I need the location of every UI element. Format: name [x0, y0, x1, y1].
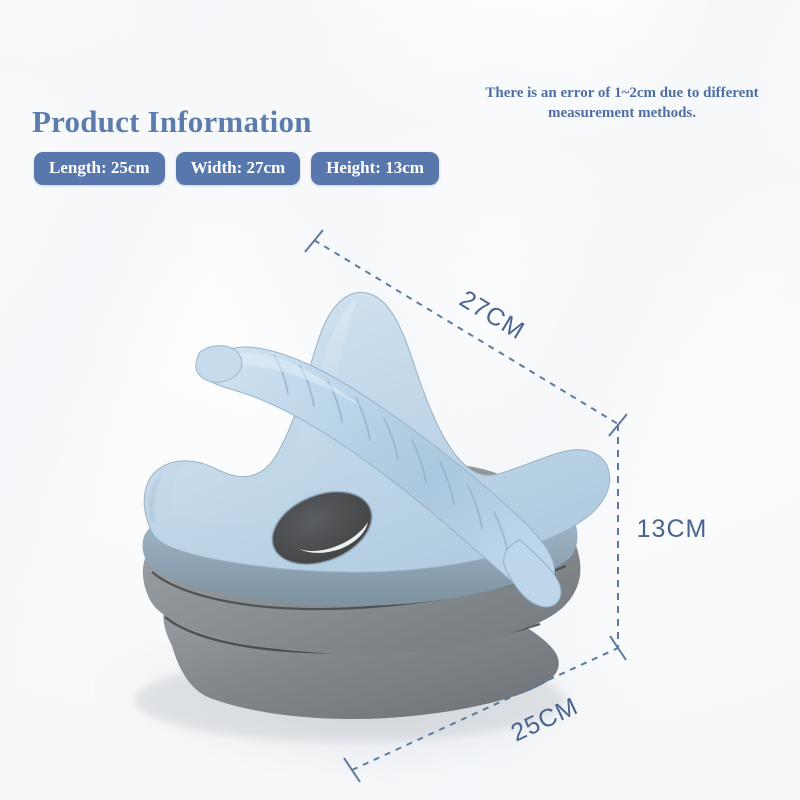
dimension-line-width	[314, 240, 618, 424]
product-information-image: Product Information There is an error of…	[0, 0, 800, 800]
dimension-label-height: 13CM	[637, 515, 708, 543]
dimension-label-width: 27CM	[455, 285, 530, 345]
dimension-tick-width-start	[305, 230, 323, 252]
dimension-annotations: 27CM 13CM 25CM	[0, 0, 800, 800]
dimension-tick-length-start	[344, 758, 360, 782]
dimension-label-length: 25CM	[507, 692, 583, 747]
dimension-tick-length-end	[610, 636, 626, 660]
